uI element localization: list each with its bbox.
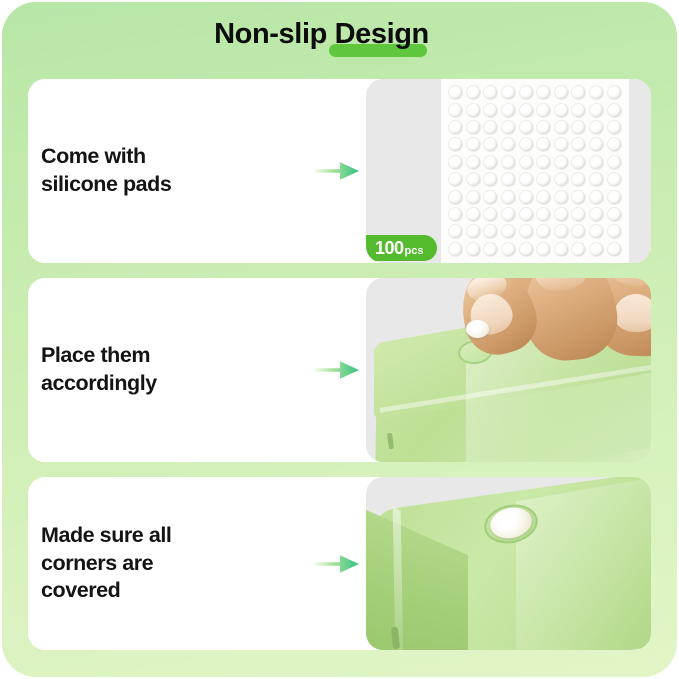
silicone-pad-dot	[466, 155, 481, 170]
page-title: Non-slip Design	[214, 18, 429, 50]
arrow-right-icon	[308, 79, 366, 263]
silicone-pad-dot	[554, 242, 569, 257]
silicone-pad-dot	[607, 172, 622, 187]
silicone-pad-being-placed	[466, 320, 489, 338]
silicone-pad-dot	[501, 224, 516, 239]
silicone-pad-dot	[519, 137, 534, 152]
silicone-pad-dot	[607, 103, 622, 118]
silicone-pad-dot	[571, 224, 586, 239]
arrow-right-icon	[308, 278, 366, 462]
silicone-pad-dot	[607, 190, 622, 205]
badge-number: 100	[375, 235, 404, 261]
silicone-pad-dot	[571, 207, 586, 222]
silicone-pad-dot	[448, 190, 463, 205]
arrow-right-icon	[308, 477, 366, 650]
card-text-pane: Place them accordingly	[28, 278, 308, 462]
card-text-pane: Made sure all corners are covered	[28, 477, 308, 650]
card-image-hand-placing-pad	[366, 278, 651, 462]
silicone-pad-dot	[448, 155, 463, 170]
silicone-pad-dot	[483, 155, 498, 170]
silicone-pad-dot	[501, 155, 516, 170]
silicone-pad-dot	[536, 207, 551, 222]
silicone-pad-dot	[589, 155, 604, 170]
silicone-pad-dot	[519, 85, 534, 100]
silicone-pad-dot	[589, 172, 604, 187]
silicone-pad-dot	[554, 172, 569, 187]
silicone-pad-dot	[554, 103, 569, 118]
silicone-pad-dot	[607, 207, 622, 222]
card-text-pane: Come with silicone pads	[28, 79, 308, 263]
silicone-pad-dot	[554, 207, 569, 222]
silicone-pad-dot	[607, 155, 622, 170]
silicone-pad-dot	[536, 190, 551, 205]
feature-card-1: Come with silicone pads 100 pcs	[28, 79, 651, 263]
silicone-pad-dot	[554, 155, 569, 170]
silicone-pad-dot	[483, 224, 498, 239]
silicone-pad-dot	[466, 224, 481, 239]
silicone-pad-dot	[501, 242, 516, 257]
silicone-pad-dot	[589, 242, 604, 257]
silicone-pad-dot	[571, 242, 586, 257]
silicone-pad-dot	[571, 120, 586, 135]
silicone-pad-dot	[519, 120, 534, 135]
silicone-pad-dot	[536, 242, 551, 257]
silicone-pad-dot	[448, 224, 463, 239]
silicone-pad-dot	[589, 120, 604, 135]
silicone-pad-dot	[519, 172, 534, 187]
silicone-pad-sheet	[441, 79, 629, 263]
arrow-right-glyph	[314, 552, 360, 576]
silicone-pad-dot	[536, 85, 551, 100]
silicone-pad-dot	[466, 207, 481, 222]
scene-container-corner	[366, 477, 651, 650]
silicone-pad-dot	[519, 207, 534, 222]
silicone-pad-dot	[589, 103, 604, 118]
silicone-pad-dot	[536, 224, 551, 239]
silicone-pad-dot	[519, 155, 534, 170]
silicone-pad-dot	[607, 85, 622, 100]
silicone-pad-dot	[589, 224, 604, 239]
silicone-pad-dot	[571, 172, 586, 187]
silicone-pad-dot	[554, 120, 569, 135]
scene-hand-and-container	[366, 278, 651, 462]
silicone-pad-dot	[466, 190, 481, 205]
silicone-pad-dot	[536, 103, 551, 118]
silicone-pad-dot	[466, 103, 481, 118]
feature-card-3: Made sure all corners are covered	[28, 477, 651, 650]
silicone-pad-dot	[466, 172, 481, 187]
silicone-pad-dot	[483, 137, 498, 152]
silicone-pad-dot	[501, 137, 516, 152]
quantity-badge: 100 pcs	[366, 235, 437, 261]
silicone-pad-dot	[448, 137, 463, 152]
feature-card-2: Place them accordingly	[28, 278, 651, 462]
silicone-pad-dot	[571, 155, 586, 170]
silicone-pad-dot	[607, 224, 622, 239]
card-image-corner-closeup	[366, 477, 651, 650]
infographic-root: Non-slip Design Come with silicone pads	[0, 0, 679, 679]
silicone-pad-dot	[483, 85, 498, 100]
page-title-area: Non-slip Design	[0, 11, 679, 57]
card-caption: Place them accordingly	[41, 342, 157, 397]
silicone-pad-dot	[589, 190, 604, 205]
silicone-pad-dot	[571, 85, 586, 100]
silicone-pad-dot	[519, 242, 534, 257]
silicone-pad-dot	[466, 137, 481, 152]
silicone-pad-dot	[501, 207, 516, 222]
silicone-pad-dot	[466, 85, 481, 100]
silicone-pad-dot	[554, 85, 569, 100]
silicone-pad-dot	[571, 190, 586, 205]
silicone-pad-dot	[536, 120, 551, 135]
silicone-pad-dot	[536, 137, 551, 152]
silicone-pad-dot	[448, 207, 463, 222]
silicone-pad-dot	[466, 120, 481, 135]
silicone-pad-dot	[519, 103, 534, 118]
silicone-pad-dot	[501, 103, 516, 118]
badge-unit: pcs	[405, 238, 424, 263]
silicone-pad-dot	[589, 137, 604, 152]
card-caption: Made sure all corners are covered	[41, 522, 171, 605]
silicone-pad-dot	[589, 207, 604, 222]
silicone-pad-dot	[448, 172, 463, 187]
arrow-right-glyph	[314, 358, 360, 382]
card-image-pads-sheet: 100 pcs	[366, 79, 651, 263]
silicone-pad-dot	[589, 85, 604, 100]
silicone-pad-dot	[607, 137, 622, 152]
silicone-pad-dot	[536, 172, 551, 187]
silicone-pad-dot	[483, 207, 498, 222]
silicone-pad-dot	[483, 190, 498, 205]
silicone-pad-dot	[501, 190, 516, 205]
silicone-pad-dot	[448, 242, 463, 257]
silicone-pad-dot	[607, 242, 622, 257]
silicone-pad-dot	[519, 224, 534, 239]
silicone-pad-dot	[501, 120, 516, 135]
silicone-pad-dot	[536, 155, 551, 170]
silicone-pad-dot	[501, 172, 516, 187]
silicone-pad-dot	[483, 120, 498, 135]
silicone-pad-dot	[483, 103, 498, 118]
silicone-pad-dot	[519, 190, 534, 205]
card-caption: Come with silicone pads	[41, 143, 171, 198]
silicone-pad-dot	[448, 85, 463, 100]
silicone-pad-dot	[571, 103, 586, 118]
silicone-pad-dot	[607, 120, 622, 135]
silicone-pad-dot	[571, 137, 586, 152]
silicone-pad-dot	[483, 172, 498, 187]
silicone-pad-dot	[501, 85, 516, 100]
silicone-pad-dot	[554, 190, 569, 205]
arrow-right-glyph	[314, 159, 360, 183]
container-sheen	[516, 477, 651, 650]
silicone-pad-dot	[483, 242, 498, 257]
silicone-pad-dot	[466, 242, 481, 257]
silicone-pad-dot	[448, 120, 463, 135]
silicone-pad-dot	[448, 103, 463, 118]
silicone-pad-dot	[554, 137, 569, 152]
silicone-pad-dot	[554, 224, 569, 239]
